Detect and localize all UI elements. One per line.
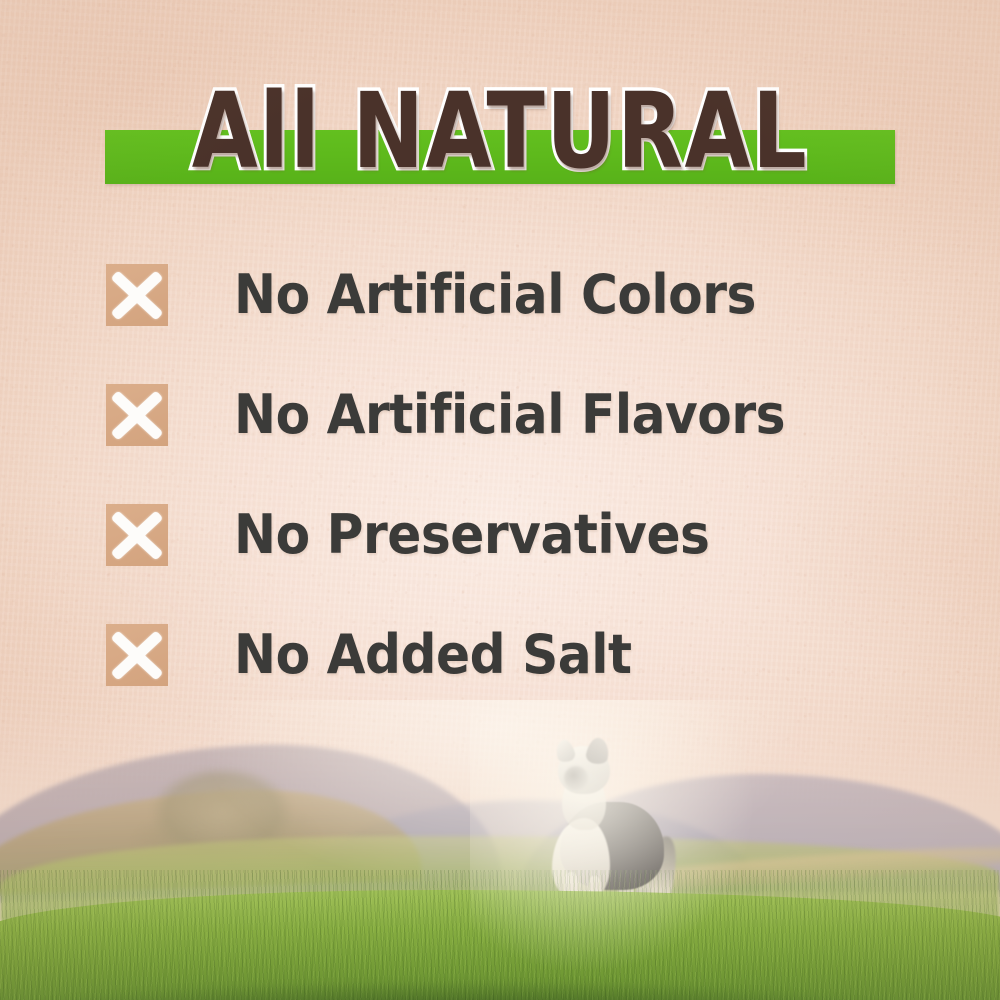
x-mark-icon [106,624,168,686]
claim-label: No Preservatives [234,496,709,574]
x-mark-icon [106,504,168,566]
claims-list: No Artificial Colors No Artificial Flavo… [106,256,926,736]
product-feature-graphic: All NATURAL No Artificial Colors No Arti… [0,0,1000,1000]
list-item: No Artificial Flavors [106,376,926,496]
header-banner: All NATURAL [0,72,1000,192]
x-mark-icon [106,384,168,446]
x-mark-icon [106,264,168,326]
landscape-photo [0,700,1000,1000]
list-item: No Preservatives [106,496,926,616]
page-title: All NATURAL [90,72,910,190]
dog-muzzle [564,766,588,790]
grass-shadow [0,958,1000,1000]
claim-label: No Added Salt [234,616,632,694]
claim-label: No Artificial Colors [234,256,756,334]
list-item: No Artificial Colors [106,256,926,376]
claim-label: No Artificial Flavors [234,376,785,454]
